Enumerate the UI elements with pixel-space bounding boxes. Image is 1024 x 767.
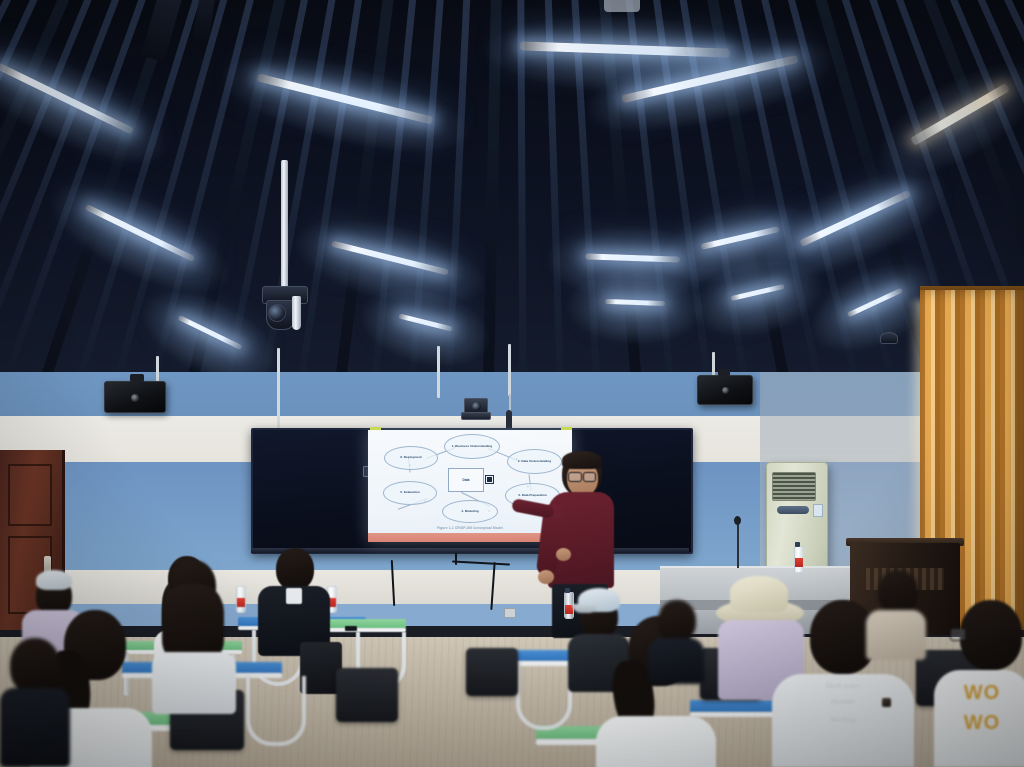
- slide-center-data-box: Data: [448, 468, 484, 492]
- camera-drop-tube: [292, 296, 301, 330]
- ceiling-tube-light: [85, 204, 195, 262]
- slide-node-business-understanding: 1. Business Understanding: [444, 434, 500, 459]
- speaker-bracket-right: [718, 369, 730, 376]
- ceiling-sensor: [880, 332, 898, 344]
- ceiling-tube-light: [605, 299, 665, 306]
- wall-speaker-left: [104, 381, 166, 413]
- presenter-hand-left: [538, 570, 554, 584]
- bottle-label: [795, 558, 803, 567]
- student-head-back-right-2: [658, 600, 696, 642]
- ceiling-tube-light: [621, 55, 798, 103]
- student-foreground-left2: [140, 560, 240, 700]
- desk-leg-curve-3: [246, 676, 306, 746]
- desk-microphone-stand: [737, 520, 739, 568]
- student-glasses-gold: [950, 628, 966, 641]
- ceiling: [0, 0, 1024, 372]
- ceiling-slat: [594, 0, 648, 372]
- ceiling-tube-light: [585, 253, 680, 262]
- student-head-gold: [960, 600, 1022, 670]
- ceiling-tube-light: [700, 226, 779, 250]
- wall-speaker-right: [697, 375, 753, 405]
- chair-3: [466, 648, 518, 696]
- student-head-back-left: [10, 638, 60, 694]
- ceiling-slat: [568, 0, 605, 372]
- ceiling-slat: [517, 0, 527, 372]
- student-gold-shirt: WO WO: [934, 600, 1024, 767]
- ceiling-slat: [59, 0, 218, 372]
- slide-node-business-label: 1. Business Understanding: [452, 445, 492, 449]
- ceiling-camera-lens: [268, 304, 286, 322]
- slide-data-icon: [485, 475, 494, 484]
- shirt-print-line2: Humble: [772, 698, 914, 707]
- slide-node-modeling-label: 4. Modeling: [461, 510, 478, 514]
- student-torso-fg-center: [596, 716, 716, 767]
- shirt-logo-badge: [882, 698, 891, 707]
- ceiling-slat: [442, 0, 473, 372]
- ceiling-slat: [543, 0, 566, 372]
- presenter-hand-right: [556, 548, 571, 561]
- presenter-glasses: [568, 472, 582, 482]
- student-torso-fg-left2: [152, 652, 236, 714]
- wall-camera-lens: [472, 402, 481, 411]
- speaker-bracket-left: [130, 374, 144, 382]
- floor-cable-a: [455, 553, 457, 565]
- desk-leg-curve-4: [516, 664, 572, 730]
- student-torso-back-right-1: [866, 610, 926, 660]
- slide-node-evaluation-label: 5. Evaluation: [400, 491, 419, 495]
- shirt-print-line1: Dark years: [772, 682, 914, 691]
- door-panel-upper: [8, 464, 52, 526]
- student-back-left: [0, 638, 70, 767]
- slide-node-deployment: 6. Deployment: [384, 446, 438, 470]
- ac-vent-grille: [772, 472, 816, 501]
- slide-node-modeling: 4. Modeling: [442, 500, 498, 523]
- student-back-right-1: [860, 570, 930, 660]
- slide-node-evaluation: 5. Evaluation: [383, 481, 437, 505]
- shirt-print-line3: Working: [772, 716, 914, 725]
- shirt-print-gold-line2: WO: [934, 714, 1024, 733]
- ceiling-tube-light: [730, 284, 785, 301]
- presenter-hair: [562, 451, 602, 469]
- speaker-cone-right: [722, 387, 729, 394]
- slide-center-label: Data: [463, 478, 470, 482]
- bottle-counter: [794, 546, 804, 573]
- phone-on-desk[interactable]: [345, 626, 357, 631]
- student-torso-back-left: [0, 688, 70, 767]
- classroom-scene: 6. Deployment 1. Business Understanding …: [0, 0, 1024, 767]
- speaker-cone-left: [131, 394, 139, 402]
- ceiling-slat: [481, 0, 503, 372]
- student-back-right-2: [646, 600, 708, 684]
- student-head-suit: [276, 548, 314, 590]
- student-hair-fg-left2: [162, 584, 224, 662]
- ceiling-slat: [325, 0, 400, 372]
- wall-camera-base: [461, 412, 491, 420]
- student-cap-left: [36, 570, 72, 590]
- bottle-cap-counter: [795, 542, 800, 547]
- power-outlet[interactable]: [504, 608, 516, 618]
- wall-conduit-center: [277, 348, 280, 428]
- student-suit-collar: [286, 588, 302, 604]
- ceiling-vent: [604, 0, 640, 12]
- slide-node-deployment-label: 6. Deployment: [400, 456, 421, 460]
- camera-mount-pole: [281, 160, 288, 288]
- desk-microphone-head: [734, 516, 741, 525]
- shirt-print-gold-line1: WO: [934, 684, 1024, 703]
- wall-conduit-mic: [508, 344, 511, 396]
- ac-energy-label: [813, 504, 823, 517]
- student-torso-back-right-2: [648, 638, 704, 684]
- ac-brand-badge: [777, 506, 809, 514]
- student-head-back-right-1: [878, 570, 918, 614]
- chair-2: [336, 668, 398, 722]
- presenter-glasses-right: [583, 472, 596, 482]
- ceiling-tube-light: [398, 313, 453, 331]
- wall-conduit-screen: [437, 346, 440, 398]
